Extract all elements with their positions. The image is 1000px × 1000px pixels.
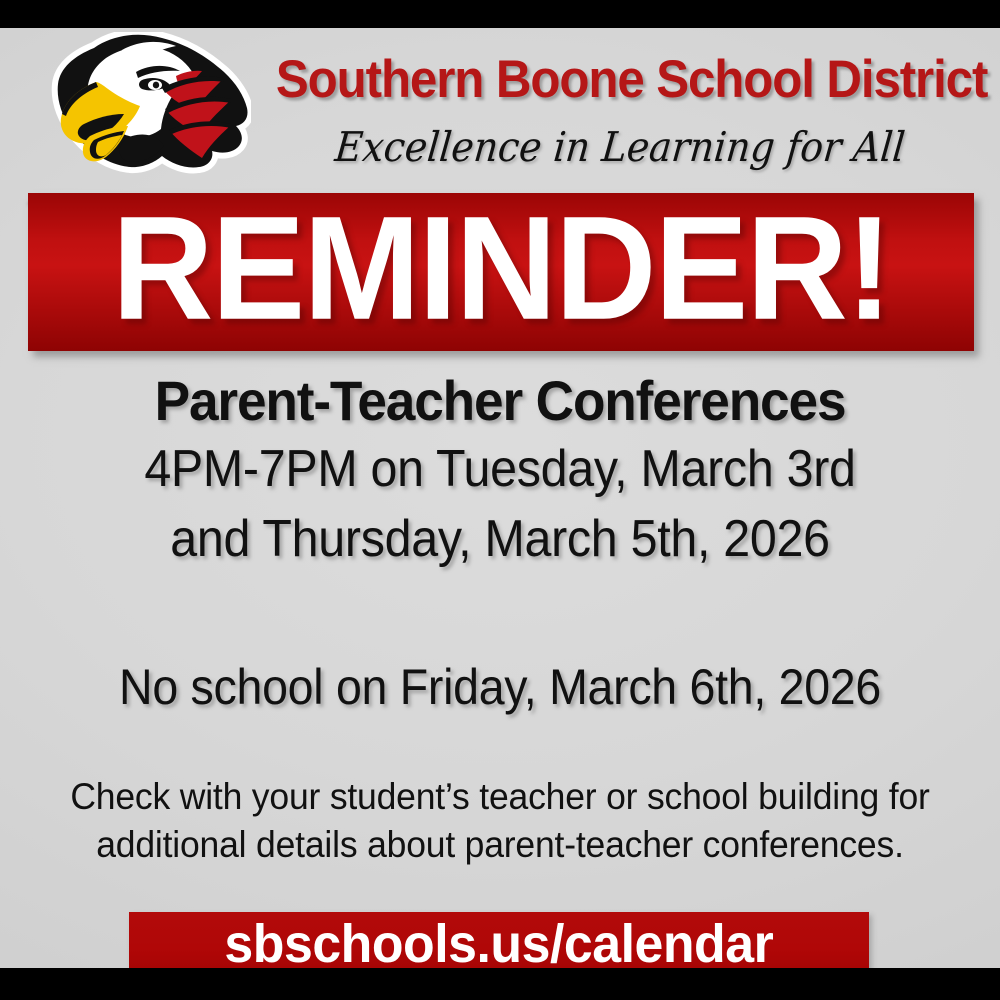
spacer [0, 574, 1000, 656]
no-school-notice: No school on Friday, March 6th, 2026 [35, 656, 965, 718]
event-time-line-1: 4PM-7PM on Tuesday, March 3rd [35, 434, 965, 504]
district-tagline: Excellence in Learning for All [277, 124, 962, 170]
calendar-url-text: sbschools.us/calendar [225, 916, 774, 975]
letterbox-bar-bottom [0, 968, 1000, 1000]
event-headline: Parent-Teacher Conferences [25, 368, 975, 434]
district-name: Southern Boone School District [276, 52, 964, 108]
event-time-line-2: and Thursday, March 5th, 2026 [35, 504, 965, 574]
note-block: Check with your student’s teacher or sch… [0, 773, 1000, 869]
body-text-block: Parent-Teacher Conferences 4PM-7PM on Tu… [0, 368, 1000, 718]
eagle-mascot-icon [36, 32, 251, 177]
poster-canvas: Southern Boone School District Excellenc… [0, 28, 1000, 968]
poster-header: Southern Boone School District Excellenc… [0, 28, 1000, 178]
reminder-poster: Southern Boone School District Excellenc… [0, 0, 1000, 1000]
letterbox-bar-top [0, 0, 1000, 28]
reminder-banner: REMINDER! [28, 193, 974, 351]
note-line-2: additional details about parent-teacher … [20, 821, 980, 869]
note-line-1: Check with your student’s teacher or sch… [20, 773, 980, 821]
reminder-label: REMINDER! [112, 195, 891, 349]
